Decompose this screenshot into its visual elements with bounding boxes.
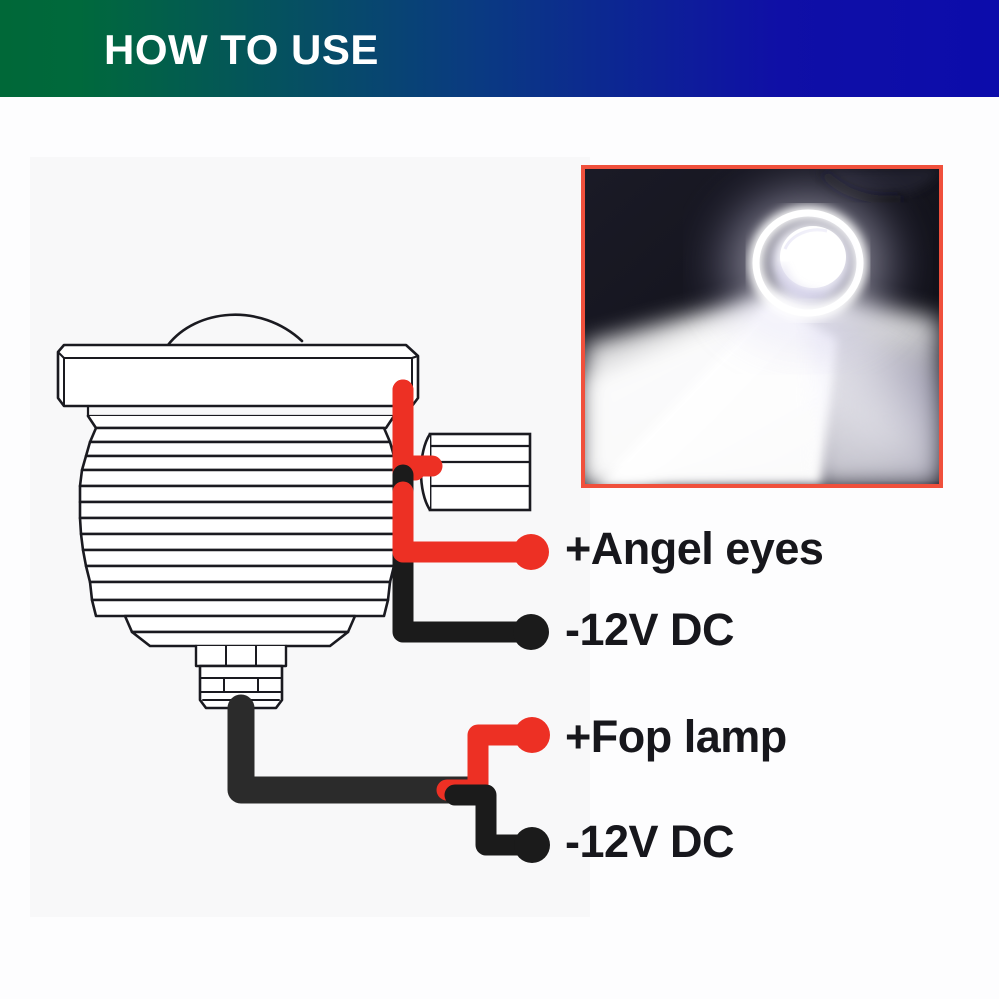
lamp-fin-3 — [82, 456, 398, 470]
lamp-fin-1 — [90, 428, 390, 442]
lamp-fin-7 — [80, 518, 400, 534]
terminal-dot-angel-eyes-positive — [513, 534, 549, 570]
lamp-fin-9 — [83, 550, 397, 566]
lamp-base-step-2 — [132, 632, 348, 646]
lamp-top-cap — [58, 345, 418, 406]
lamp-fin-6 — [80, 502, 400, 518]
label-fog-lamp-positive: +Fop lamp — [565, 712, 787, 762]
how-to-use-page: HOW TO USE — [0, 0, 999, 999]
label-angel-eyes-positive: +Angel eyes — [565, 524, 823, 574]
lamp-stem-collar — [196, 646, 286, 666]
lamp-housing-drawing — [58, 315, 418, 708]
terminal-dot-fog-lamp-negative — [514, 827, 550, 863]
lamp-shoulder — [88, 416, 394, 428]
lamp-fin-8 — [81, 534, 399, 550]
lamp-lower-flange-lower — [92, 600, 388, 616]
lamp-fin-10 — [86, 566, 394, 582]
lamp-base-step-1 — [125, 616, 355, 632]
fog-lamp-main-cable — [241, 708, 470, 790]
lamp-top-dome — [168, 315, 302, 345]
wiring-diagram — [0, 0, 999, 999]
lamp-lower-flange-upper — [90, 582, 390, 600]
fog-lamp-positive-wire — [447, 735, 528, 790]
label-angel-eyes-negative: -12V DC — [565, 605, 734, 655]
lamp-fin-2 — [86, 442, 394, 456]
lamp-fin-5 — [80, 486, 400, 502]
lamp-fin-4 — [80, 470, 400, 486]
label-fog-lamp-negative: -12V DC — [565, 817, 734, 867]
terminal-dot-angel-eyes-negative — [513, 614, 549, 650]
terminal-dot-fog-lamp-positive — [514, 717, 550, 753]
